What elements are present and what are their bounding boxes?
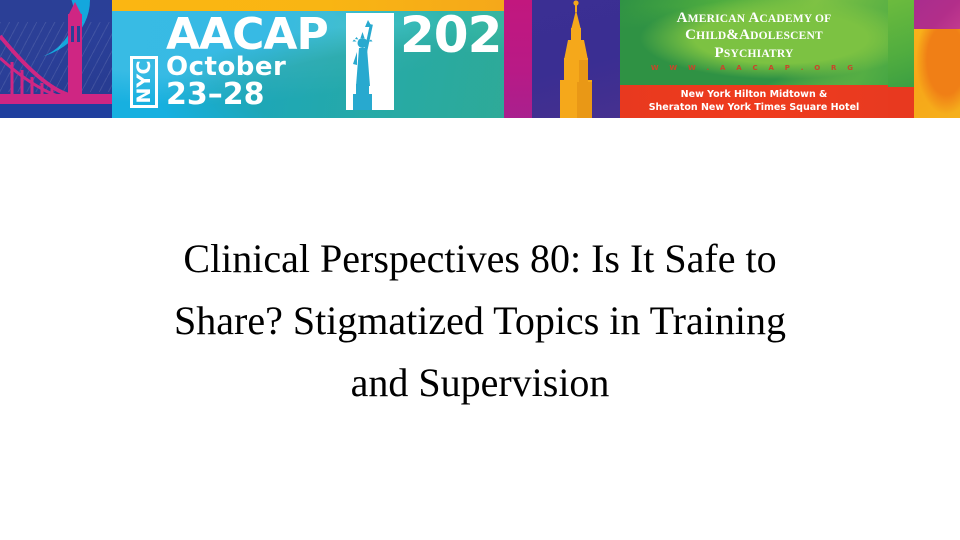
banner-panel-venue: New York Hilton Midtown & Sheraton New Y… — [620, 85, 888, 118]
aacap-acronym: AACAP — [166, 13, 328, 57]
conference-banner: AACAP NYC October 23–28 — [0, 0, 960, 118]
org-name-line-2: CHILD&ADOLESCENT — [620, 27, 888, 44]
statue-of-liberty-icon — [346, 13, 394, 110]
title-line-2: Share? Stigmatized Topics in Training — [48, 290, 912, 352]
conference-year: 2023 — [400, 10, 504, 60]
brooklyn-bridge-icon — [0, 0, 112, 118]
banner-panel-bridge — [0, 0, 112, 118]
banner-panel-magenta — [504, 0, 532, 118]
banner-block-orange — [914, 29, 960, 118]
org-name-line-1: AMERICAN ACADEMY OF — [620, 10, 888, 27]
slide-canvas: AACAP NYC October 23–28 — [0, 0, 960, 540]
org-name-line-3: PSYCHIATRY — [620, 45, 888, 62]
banner-block-green — [888, 0, 914, 87]
venue-line-1: New York Hilton Midtown & — [620, 89, 888, 100]
conference-days: 23–28 — [166, 80, 265, 110]
presentation-title: Clinical Perspectives 80: Is It Safe to … — [48, 228, 912, 414]
nyc-badge: NYC — [130, 56, 158, 108]
venue-line-2: Sheraton New York Times Square Hotel — [620, 102, 888, 113]
banner-panel-aacap: AACAP NYC October 23–28 — [112, 0, 504, 118]
empire-state-building-icon — [546, 0, 606, 118]
banner-block-purple — [914, 0, 960, 29]
title-line-1: Clinical Perspectives 80: Is It Safe to — [48, 228, 912, 290]
title-line-3: and Supervision — [48, 352, 912, 414]
nyc-badge-label: NYC — [133, 61, 155, 104]
banner-block-red — [888, 87, 914, 118]
org-website: W W W . A A C A P . O R G — [620, 64, 888, 72]
statue-silhouette — [348, 18, 378, 110]
banner-panel-purple — [532, 0, 620, 118]
banner-panel-organization-logo: AMERICAN ACADEMY OF CHILD&ADOLESCENT PSY… — [620, 0, 888, 85]
